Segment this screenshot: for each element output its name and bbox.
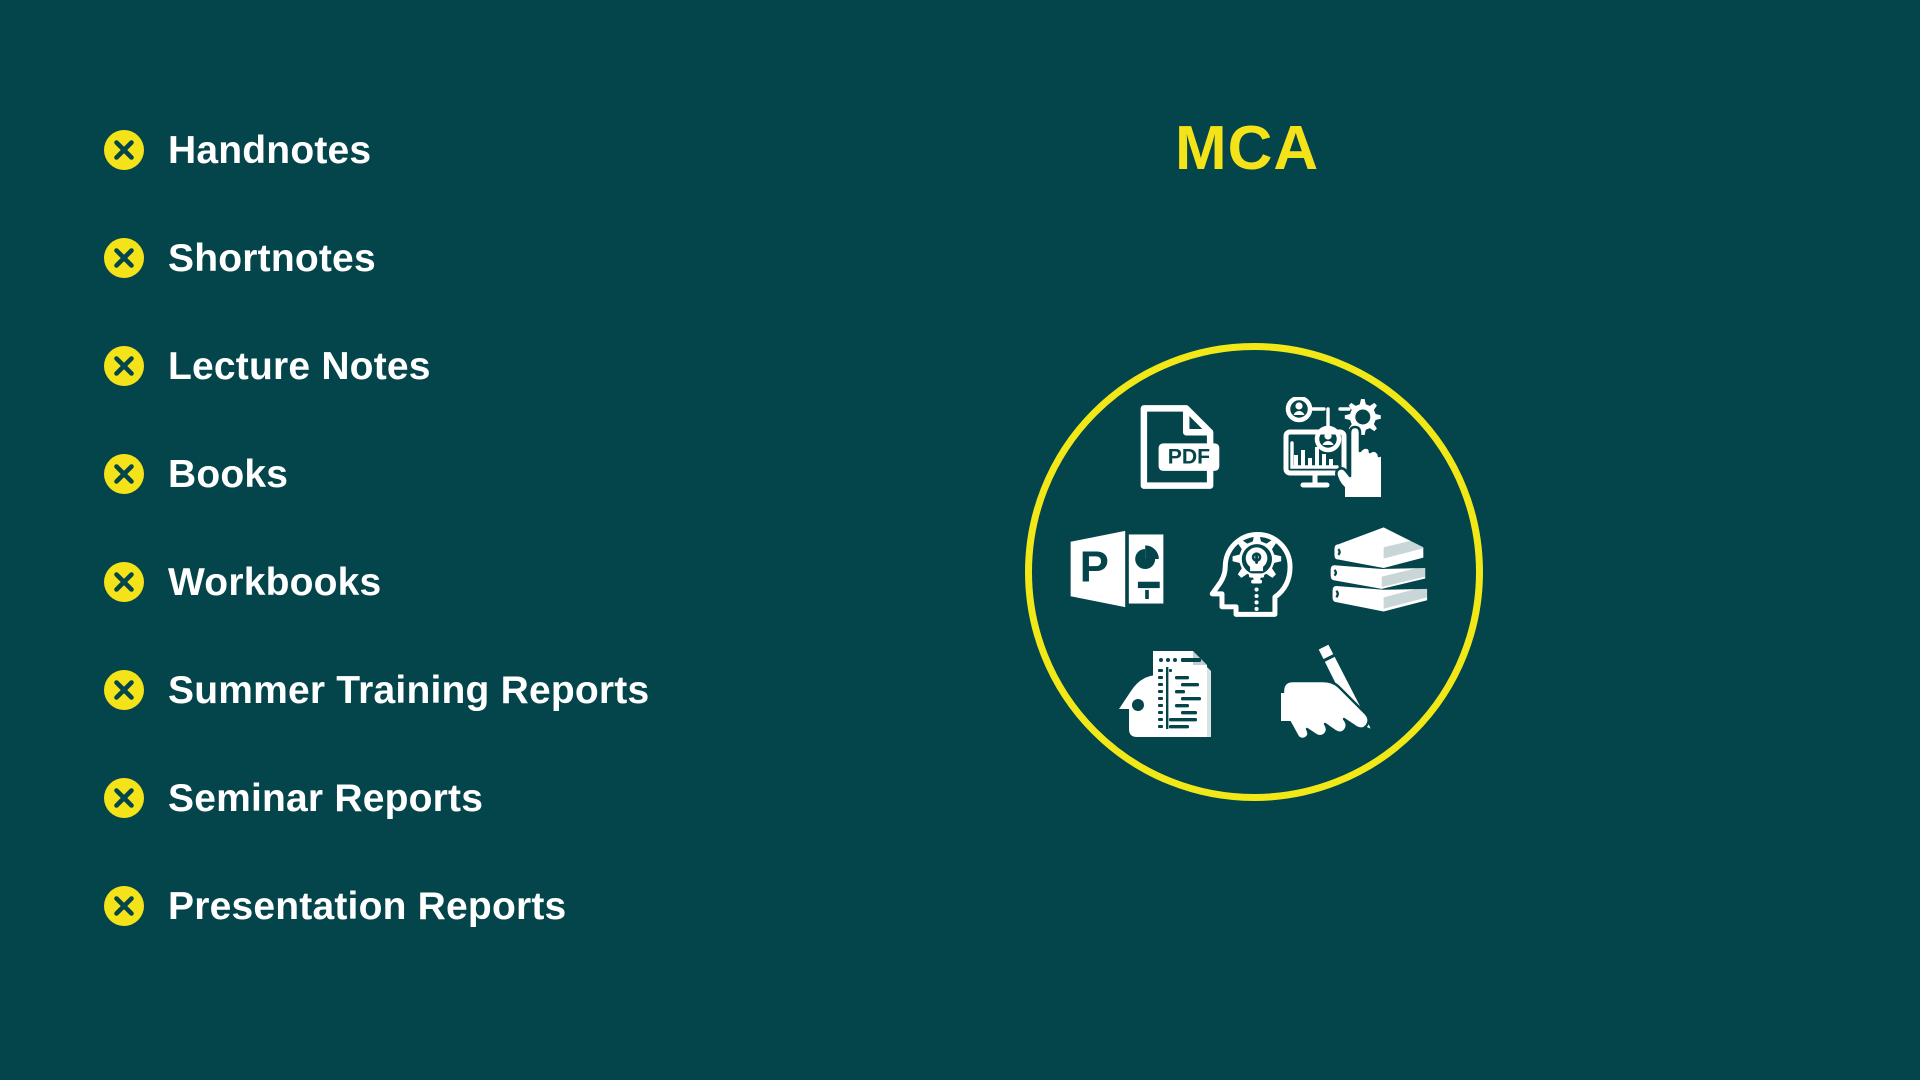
pdf-label: PDF: [1168, 446, 1210, 469]
x-circle-icon: [104, 454, 144, 494]
powerpoint-p-label: P: [1080, 544, 1109, 592]
icon-circle-badge: PDF: [1025, 343, 1483, 801]
slide-canvas: Handnotes Shortnotes Lecture Notes: [0, 0, 1920, 1080]
icon-cluster: PDF: [1025, 343, 1483, 801]
list-item-label: Handnotes: [168, 131, 371, 170]
x-circle-icon: [104, 886, 144, 926]
list-item-label: Lecture Notes: [168, 347, 431, 386]
x-circle-icon: [104, 346, 144, 386]
list-item-label: Shortnotes: [168, 239, 376, 278]
list-item-label: Workbooks: [168, 563, 381, 602]
list-item-label: Seminar Reports: [168, 779, 483, 818]
list-item[interactable]: Lecture Notes: [104, 312, 924, 420]
x-circle-icon: [104, 670, 144, 710]
list-item[interactable]: Shortnotes: [104, 204, 924, 312]
powerpoint-icon: P: [1067, 525, 1167, 613]
list-item[interactable]: Workbooks: [104, 528, 924, 636]
x-circle-icon: [104, 778, 144, 818]
list-item-label: Books: [168, 455, 288, 494]
list-item-label: Summer Training Reports: [168, 671, 649, 710]
head-gear-idea-icon: [1195, 515, 1303, 623]
list-item[interactable]: Presentation Reports: [104, 852, 924, 960]
feature-list: Handnotes Shortnotes Lecture Notes: [104, 96, 924, 960]
x-circle-icon: [104, 562, 144, 602]
list-item[interactable]: Handnotes: [104, 96, 924, 204]
x-circle-icon: [104, 130, 144, 170]
list-item[interactable]: Books: [104, 420, 924, 528]
analytics-dashboard-icon: [1281, 397, 1381, 497]
head-document-icon: [1113, 643, 1223, 747]
book-stack-icon: [1325, 523, 1429, 615]
list-item[interactable]: Summer Training Reports: [104, 636, 924, 744]
list-item[interactable]: Seminar Reports: [104, 744, 924, 852]
page-title: MCA: [1175, 118, 1319, 180]
hand-writing-pencil-icon: [1277, 639, 1389, 749]
pdf-file-icon: PDF: [1131, 401, 1223, 493]
x-circle-icon: [104, 238, 144, 278]
list-item-label: Presentation Reports: [168, 887, 566, 926]
